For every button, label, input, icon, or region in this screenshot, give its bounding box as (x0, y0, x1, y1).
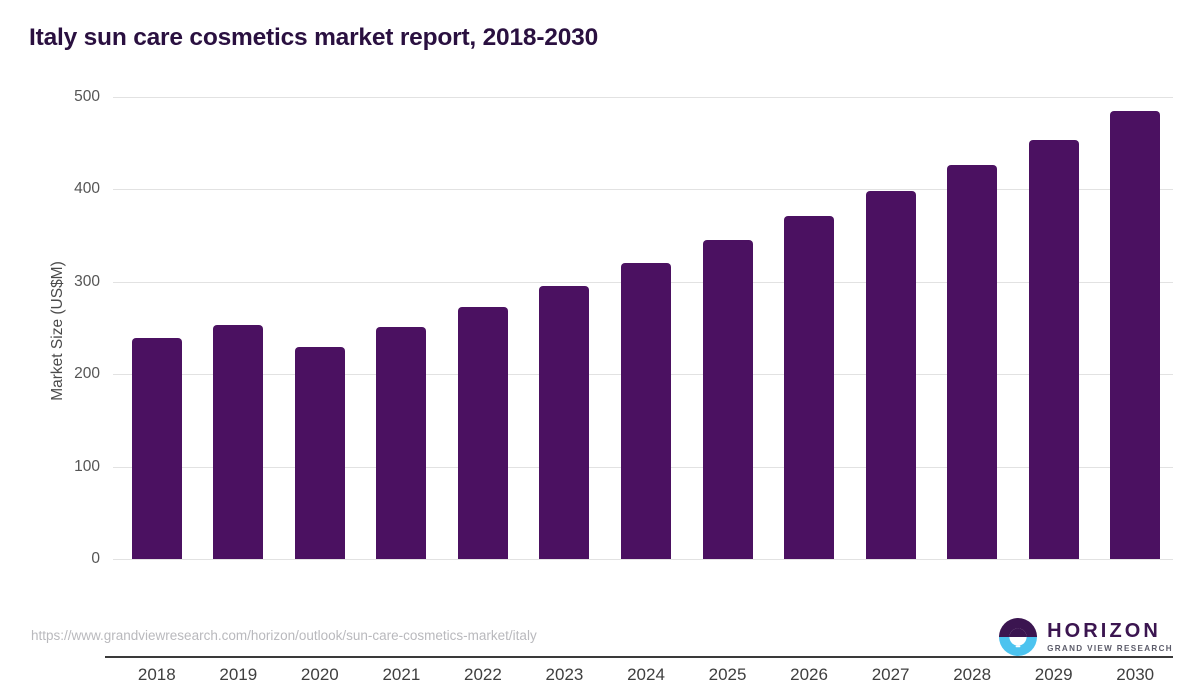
chart-page: Italy sun care cosmetics market report, … (0, 0, 1200, 675)
bar[interactable] (213, 325, 263, 559)
logo-tagline: GRAND VIEW RESEARCH (1047, 645, 1173, 653)
x-tick-label: 2018 (112, 665, 202, 685)
y-tick-label: 0 (40, 550, 100, 568)
bar[interactable] (703, 240, 753, 559)
bar[interactable] (376, 327, 426, 559)
bar[interactable] (784, 216, 834, 559)
x-tick-label: 2026 (764, 665, 854, 685)
plot-area: 2018201920202021202220232024202520262027… (113, 97, 1173, 559)
gridline (113, 559, 1173, 560)
bar[interactable] (539, 286, 589, 560)
x-tick-label: 2029 (1009, 665, 1099, 685)
x-tick-label: 2027 (846, 665, 936, 685)
y-tick-label: 400 (40, 180, 100, 198)
x-tick-label: 2023 (519, 665, 609, 685)
bar[interactable] (295, 347, 345, 559)
x-tick-label: 2021 (356, 665, 446, 685)
y-tick-label: 500 (40, 88, 100, 106)
y-tick-label: 300 (40, 273, 100, 291)
gridline (113, 189, 1173, 190)
bar[interactable] (621, 263, 671, 559)
horizon-sun-circle-icon (998, 617, 1038, 657)
x-tick-label: 2022 (438, 665, 528, 685)
x-tick-label: 2019 (193, 665, 283, 685)
y-tick-label: 100 (40, 458, 100, 476)
bar[interactable] (458, 307, 508, 559)
gridline (113, 97, 1173, 98)
x-tick-label: 2025 (683, 665, 773, 685)
logo-wordmark: HORIZON (1047, 621, 1173, 641)
source-url[interactable]: https://www.grandviewresearch.com/horizo… (31, 628, 537, 643)
brand-logo: HORIZON GRAND VIEW RESEARCH (998, 616, 1173, 658)
bar[interactable] (132, 338, 182, 559)
bar[interactable] (1029, 140, 1079, 559)
x-tick-label: 2028 (927, 665, 1017, 685)
y-tick-label: 200 (40, 365, 100, 383)
logo-text: HORIZON GRAND VIEW RESEARCH (1047, 621, 1173, 653)
x-tick-label: 2024 (601, 665, 691, 685)
x-tick-label: 2030 (1090, 665, 1180, 685)
bar[interactable] (866, 191, 916, 559)
x-tick-label: 2020 (275, 665, 365, 685)
bar[interactable] (1110, 111, 1160, 559)
bar[interactable] (947, 165, 997, 559)
